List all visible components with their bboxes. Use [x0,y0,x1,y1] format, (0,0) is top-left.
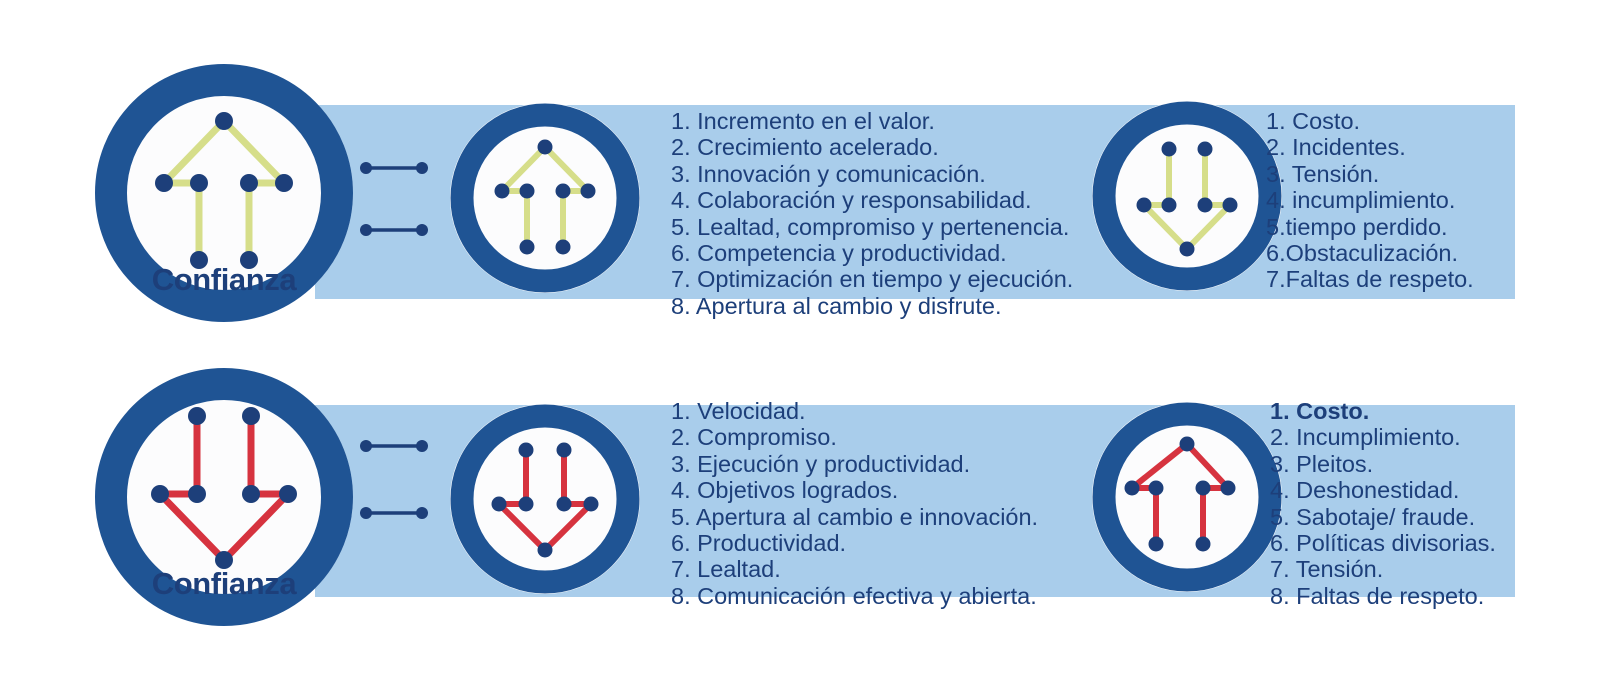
connector-trust-high-2 [358,222,430,238]
list-item: 4. Colaboración y responsabilidad. [671,187,1073,213]
circle-trust-low-middle [450,404,640,594]
list-item: 2. Incumplimiento. [1270,424,1496,450]
connector-trust-low-1 [358,438,430,454]
list-trust-low-benefits: 1. Velocidad. 2. Compromiso. 3. Ejecució… [671,398,1038,609]
arrow-down-icon [1092,101,1282,291]
list-item: 5. Lealtad, compromiso y pertenencia. [671,214,1073,240]
list-trust-high-benefits: 1. Incremento en el valor. 2. Crecimient… [671,108,1073,319]
arrow-up-icon [1092,402,1282,592]
list-item: 6. Competencia y productividad. [671,240,1073,266]
list-item: 5.tiempo perdido. [1266,214,1474,240]
list-item: 3. Tensión. [1266,161,1474,187]
list-item: 5. Sabotaje/ fraude. [1270,504,1496,530]
list-item: 1. Velocidad. [671,398,1038,424]
dumbbell-connector-icon [358,505,430,521]
list-item: 8. Apertura al cambio y disfrute. [671,293,1073,319]
list-item: 4. incumplimiento. [1266,187,1474,213]
list-item: 4. Deshonestidad. [1270,477,1496,503]
circle-trust-high-right [1092,101,1282,291]
circle-trust-low-right [1092,402,1282,592]
list-trust-high-costs: 1. Costo. 2. Incidentes. 3. Tensión. 4. … [1266,108,1474,293]
list-item: 2. Crecimiento acelerado. [671,134,1073,160]
circle-trust-high-left: Confianza [95,64,353,322]
list-item: 7. Lealtad. [671,556,1038,582]
dumbbell-connector-icon [358,160,430,176]
list-item: 6.Obstaculización. [1266,240,1474,266]
dumbbell-connector-icon [358,438,430,454]
list-item: 3. Ejecución y productividad. [671,451,1038,477]
diagram-canvas: Confianza [0,0,1600,684]
list-item: 2. Compromiso. [671,424,1038,450]
connector-trust-high-1 [358,160,430,176]
list-item: 1. Costo. [1270,398,1496,424]
list-item: 3. Pleitos. [1270,451,1496,477]
list-item: 5. Apertura al cambio e innovación. [671,504,1038,530]
circle-trust-high-middle [450,103,640,293]
dumbbell-connector-icon [358,222,430,238]
list-item: 3. Innovación y comunicación. [671,161,1073,187]
list-item: 6. Políticas divisorias. [1270,530,1496,556]
arrow-down-icon [95,368,353,626]
list-item: 7.Faltas de respeto. [1266,266,1474,292]
list-item: 8. Faltas de respeto. [1270,583,1496,609]
list-item: 1. Costo. [1266,108,1474,134]
arrow-up-icon [450,103,640,293]
list-trust-low-costs: 1. Costo. 2. Incumplimiento. 3. Pleitos.… [1270,398,1496,609]
arrow-down-icon [450,404,640,594]
list-item: 4. Objetivos logrados. [671,477,1038,503]
list-item: 7. Tensión. [1270,556,1496,582]
circle-trust-low-left: Confianza [95,368,353,626]
list-item: 7. Optimización en tiempo y ejecución. [671,266,1073,292]
list-item: 8. Comunicación efectiva y abierta. [671,583,1038,609]
arrow-up-icon [95,64,353,322]
list-item: 1. Incremento en el valor. [671,108,1073,134]
list-item: 6. Productividad. [671,530,1038,556]
list-item: 2. Incidentes. [1266,134,1474,160]
connector-trust-low-2 [358,505,430,521]
